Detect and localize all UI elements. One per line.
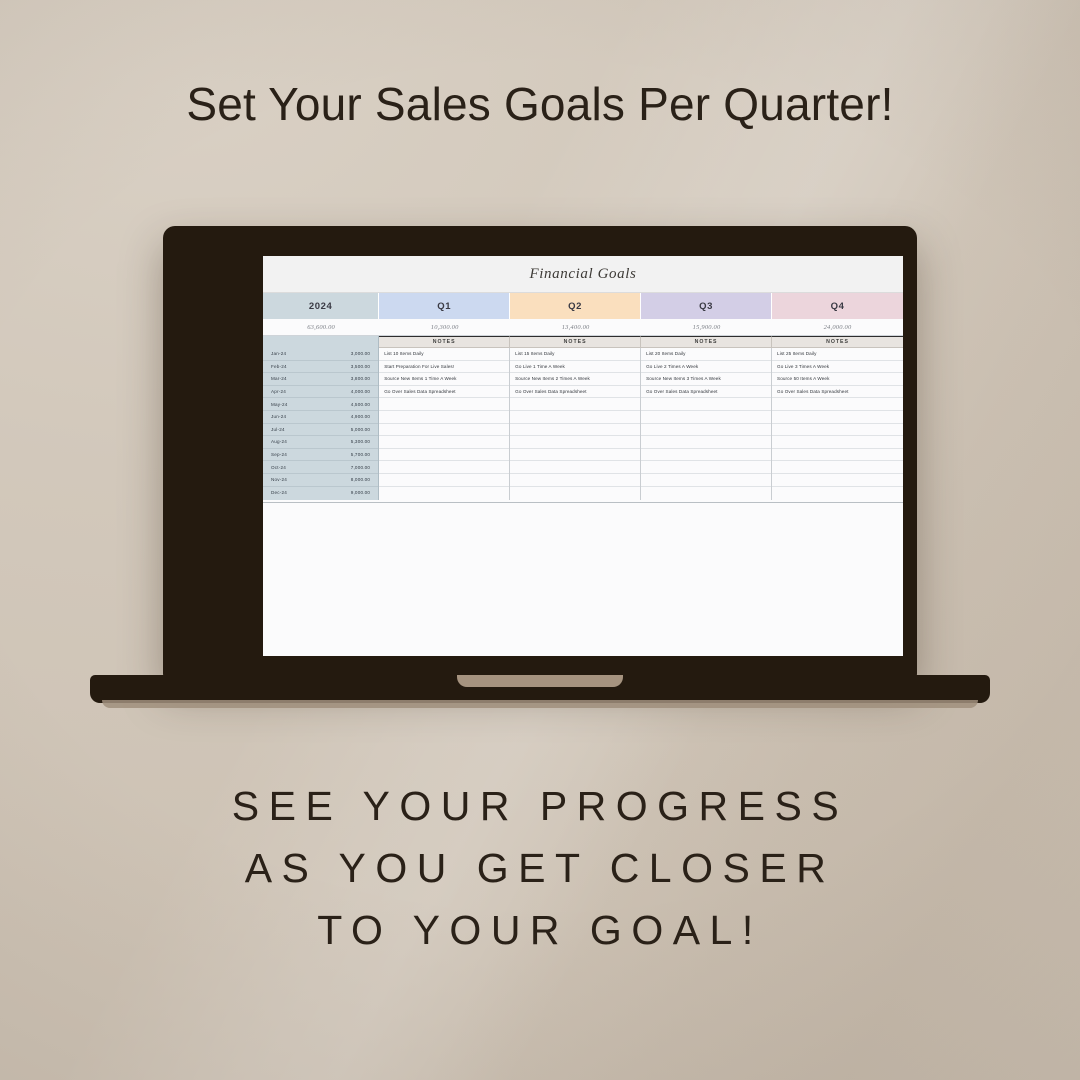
month-value: 5,300.00 bbox=[317, 439, 370, 444]
note-cell[interactable] bbox=[772, 449, 903, 462]
month-label: Jun-24 bbox=[271, 414, 317, 419]
note-cell[interactable]: Source New Items 2 Times A Week bbox=[510, 373, 640, 386]
total-q3[interactable]: 15,900.00 bbox=[641, 319, 772, 335]
note-cell[interactable] bbox=[772, 424, 903, 437]
quarter-header-q1[interactable]: Q1 bbox=[379, 293, 510, 319]
laptop-touch-notch bbox=[457, 675, 623, 687]
note-cell[interactable] bbox=[772, 461, 903, 474]
spreadsheet-title: Financial Goals bbox=[530, 266, 637, 283]
note-cell[interactable]: List 10 Items Daily bbox=[379, 348, 509, 361]
note-cell[interactable]: List 20 Items Daily bbox=[641, 348, 771, 361]
notes-column-q3: List 20 Items DailyGo Live 2 Times A Wee… bbox=[641, 348, 772, 500]
notes-header-row: NOTESNOTESNOTESNOTES bbox=[263, 336, 903, 348]
note-cell[interactable] bbox=[510, 487, 640, 500]
note-cell[interactable] bbox=[641, 424, 771, 437]
month-label: Feb-24 bbox=[271, 364, 317, 369]
note-cell[interactable] bbox=[641, 411, 771, 424]
note-cell[interactable] bbox=[641, 487, 771, 500]
month-row[interactable]: Dec-249,000.00 bbox=[263, 487, 378, 500]
quarter-header-q2[interactable]: Q2 bbox=[510, 293, 641, 319]
note-cell[interactable] bbox=[510, 461, 640, 474]
month-row[interactable]: Nov-248,000.00 bbox=[263, 474, 378, 487]
total-q4[interactable]: 24,000.00 bbox=[772, 319, 903, 335]
month-label: Sep-24 bbox=[271, 452, 317, 457]
month-value: 3,000.00 bbox=[317, 351, 370, 356]
note-cell[interactable] bbox=[772, 487, 903, 500]
note-cell[interactable] bbox=[641, 449, 771, 462]
month-row[interactable]: Jun-244,900.00 bbox=[263, 411, 378, 424]
month-label: Apr-24 bbox=[271, 389, 317, 394]
note-cell[interactable]: Go Over Sales Data Spreadsheet bbox=[379, 386, 509, 399]
note-cell[interactable] bbox=[641, 474, 771, 487]
note-cell[interactable] bbox=[379, 424, 509, 437]
note-cell[interactable]: Start Preparation For Live Sales! bbox=[379, 361, 509, 374]
spreadsheet: Financial Goals 2024Q1Q2Q3Q4 63,600.0010… bbox=[263, 256, 903, 656]
page-headline: Set Your Sales Goals Per Quarter! bbox=[0, 74, 1080, 134]
note-cell[interactable]: List 25 Items Daily bbox=[772, 348, 903, 361]
notes-column-header-q2[interactable]: NOTES bbox=[510, 336, 641, 348]
month-value: 4,900.00 bbox=[317, 414, 370, 419]
month-row[interactable]: Oct-247,000.00 bbox=[263, 461, 378, 474]
month-label: Jan-24 bbox=[271, 351, 317, 356]
note-cell[interactable] bbox=[641, 461, 771, 474]
note-cell[interactable] bbox=[379, 436, 509, 449]
spreadsheet-empty-area bbox=[263, 503, 903, 656]
month-row[interactable]: Feb-243,500.00 bbox=[263, 361, 378, 374]
month-label: Dec-24 bbox=[271, 490, 317, 495]
month-value: 8,000.00 bbox=[317, 477, 370, 482]
month-row[interactable]: Apr-244,000.00 bbox=[263, 386, 378, 399]
month-value: 4,500.00 bbox=[317, 402, 370, 407]
spreadsheet-grid: Jan-243,000.00Feb-243,500.00Mar-243,800.… bbox=[263, 348, 903, 500]
note-cell[interactable] bbox=[379, 474, 509, 487]
month-row[interactable]: Mar-243,800.00 bbox=[263, 373, 378, 386]
note-cell[interactable] bbox=[641, 398, 771, 411]
quarter-header-q4[interactable]: Q4 bbox=[772, 293, 903, 319]
note-cell[interactable]: Go Over Sales Data Spreadsheet bbox=[510, 386, 640, 399]
spreadsheet-titlebar: Financial Goals bbox=[263, 256, 903, 293]
month-column: Jan-243,000.00Feb-243,500.00Mar-243,800.… bbox=[263, 348, 379, 500]
note-cell[interactable] bbox=[510, 424, 640, 437]
note-cell[interactable] bbox=[510, 411, 640, 424]
note-cell[interactable] bbox=[772, 474, 903, 487]
note-cell[interactable]: List 15 Items Daily bbox=[510, 348, 640, 361]
note-cell[interactable] bbox=[772, 411, 903, 424]
notes-column-q2: List 15 Items DailyGo Live 1 Time A Week… bbox=[510, 348, 641, 500]
month-row[interactable]: Jan-243,000.00 bbox=[263, 348, 378, 361]
note-cell[interactable] bbox=[379, 461, 509, 474]
quarter-totals-row: 63,600.0010,300.0013,400.0015,900.0024,0… bbox=[263, 319, 903, 336]
page-caption: See Your ProgressAs You Get CloserTo You… bbox=[0, 775, 1080, 961]
note-cell[interactable] bbox=[510, 474, 640, 487]
month-value: 9,000.00 bbox=[317, 490, 370, 495]
note-cell[interactable] bbox=[379, 487, 509, 500]
laptop-mockup: Financial Goals 2024Q1Q2Q3Q4 63,600.0010… bbox=[90, 226, 990, 712]
total-q1[interactable]: 10,300.00 bbox=[379, 319, 510, 335]
note-cell[interactable] bbox=[379, 411, 509, 424]
note-cell[interactable]: Source New Items 1 Time A Week bbox=[379, 373, 509, 386]
month-value: 4,000.00 bbox=[317, 389, 370, 394]
note-cell[interactable] bbox=[510, 398, 640, 411]
quarter-header-q3[interactable]: Q3 bbox=[641, 293, 772, 319]
month-value: 3,800.00 bbox=[317, 376, 370, 381]
month-label: May-24 bbox=[271, 402, 317, 407]
laptop-base-lip bbox=[102, 700, 978, 708]
notes-header-spacer bbox=[263, 336, 379, 348]
month-label: Nov-24 bbox=[271, 477, 317, 482]
month-value: 7,000.00 bbox=[317, 465, 370, 470]
month-label: Oct-24 bbox=[271, 465, 317, 470]
laptop-screen: Financial Goals 2024Q1Q2Q3Q4 63,600.0010… bbox=[263, 256, 903, 656]
note-cell[interactable]: Go Over Sales Data Spreadsheet bbox=[641, 386, 771, 399]
note-cell[interactable]: Go Live 3 Times A Week bbox=[772, 361, 903, 374]
month-row[interactable]: Jul-245,000.00 bbox=[263, 424, 378, 437]
note-cell[interactable] bbox=[379, 449, 509, 462]
total-2024[interactable]: 63,600.00 bbox=[263, 319, 379, 335]
month-row[interactable]: Aug-245,300.00 bbox=[263, 436, 378, 449]
notes-column-header-q3[interactable]: NOTES bbox=[641, 336, 772, 348]
note-cell[interactable] bbox=[510, 436, 640, 449]
note-cell[interactable]: Go Live 1 Time A Week bbox=[510, 361, 640, 374]
month-row[interactable]: Sep-245,700.00 bbox=[263, 449, 378, 462]
month-row[interactable]: May-244,500.00 bbox=[263, 398, 378, 411]
month-label: Aug-24 bbox=[271, 439, 317, 444]
caption-line: As You Get Closer bbox=[0, 837, 1080, 899]
caption-line: To Your Goal! bbox=[0, 899, 1080, 961]
note-cell[interactable]: Source New Items 3 Times A Week bbox=[641, 373, 771, 386]
note-cell[interactable] bbox=[641, 436, 771, 449]
quarter-header-2024[interactable]: 2024 bbox=[263, 293, 379, 319]
note-cell[interactable] bbox=[772, 398, 903, 411]
caption-line: See Your Progress bbox=[0, 775, 1080, 837]
month-value: 5,000.00 bbox=[317, 427, 370, 432]
total-q2[interactable]: 13,400.00 bbox=[510, 319, 641, 335]
quarter-header-row: 2024Q1Q2Q3Q4 bbox=[263, 293, 903, 319]
note-cell[interactable]: Go Live 2 Times A Week bbox=[641, 361, 771, 374]
month-label: Jul-24 bbox=[271, 427, 317, 432]
note-cell[interactable] bbox=[772, 436, 903, 449]
month-label: Mar-24 bbox=[271, 376, 317, 381]
notes-column-q4: List 25 Items DailyGo Live 3 Times A Wee… bbox=[772, 348, 903, 500]
laptop-lid: Financial Goals 2024Q1Q2Q3Q4 63,600.0010… bbox=[163, 226, 917, 678]
notes-column-header-q1[interactable]: NOTES bbox=[379, 336, 510, 348]
note-cell[interactable]: Go Over Sales Data Spreadsheet bbox=[772, 386, 903, 399]
note-cell[interactable]: Source 50 Items A Week bbox=[772, 373, 903, 386]
note-cell[interactable] bbox=[379, 398, 509, 411]
notes-column-q1: List 10 Items DailyStart Preparation For… bbox=[379, 348, 510, 500]
notes-column-header-q4[interactable]: NOTES bbox=[772, 336, 903, 348]
month-value: 5,700.00 bbox=[317, 452, 370, 457]
month-value: 3,500.00 bbox=[317, 364, 370, 369]
note-cell[interactable] bbox=[510, 449, 640, 462]
